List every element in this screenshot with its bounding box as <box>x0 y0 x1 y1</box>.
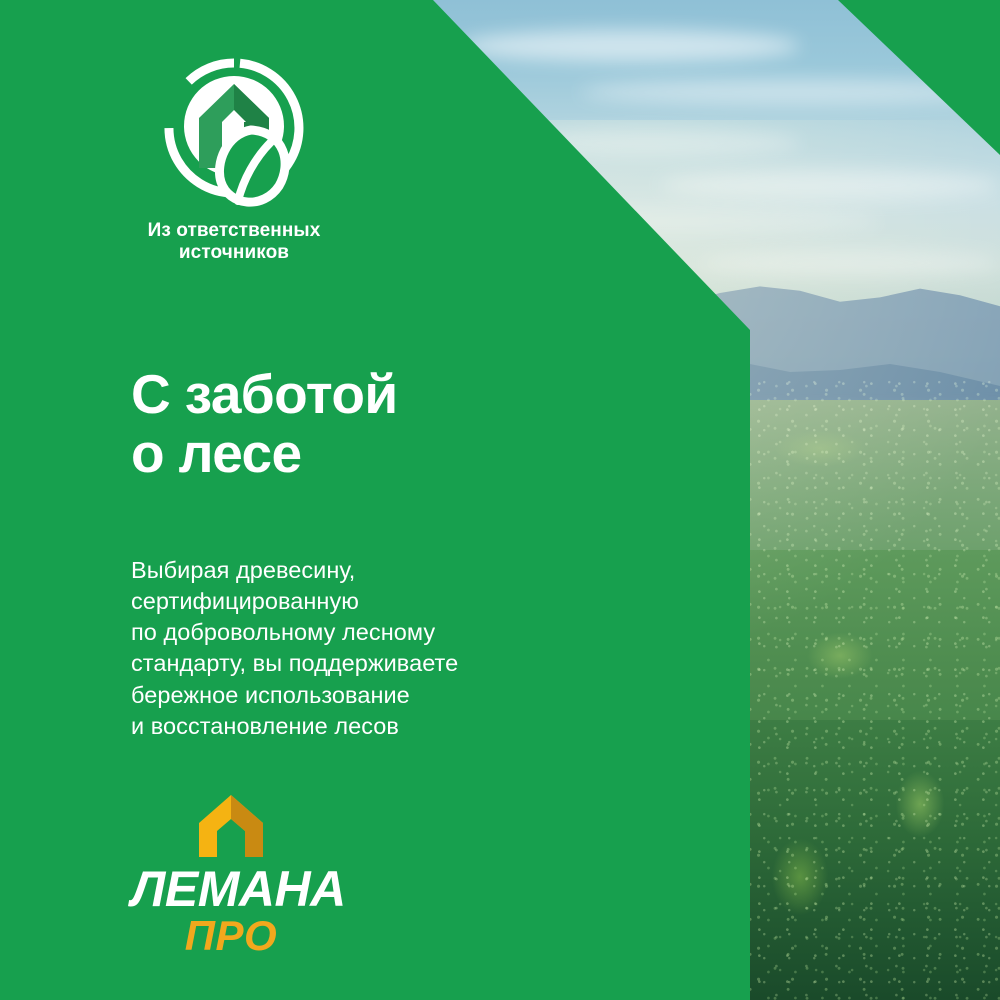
headline-line-1: С заботой <box>131 365 398 424</box>
brand-suffix: ПРО <box>131 915 331 957</box>
page-title: С заботой о лесе <box>131 365 398 484</box>
promo-poster: Из ответственных источников С заботой о … <box>0 0 1000 1000</box>
certification-caption-line-1: Из ответственных <box>128 220 340 242</box>
body-line-1: Выбирая древесину, <box>131 555 458 586</box>
headline-line-2: о лесе <box>131 424 398 483</box>
brand-logo: ЛЕМАНА ПРО <box>131 793 331 957</box>
body-line-4: стандарту, вы поддерживаете <box>131 648 458 679</box>
poster-content: Из ответственных источников С заботой о … <box>0 0 1000 1000</box>
body-line-2: сертифицированную <box>131 586 458 617</box>
circle-house-leaf-icon <box>159 58 309 210</box>
body-line-5: бережное использование <box>131 680 458 711</box>
certification-caption-line-2: источников <box>128 242 340 264</box>
body-line-6: и восстановление лесов <box>131 711 458 742</box>
brand-name: ЛЕМАНА <box>131 865 331 913</box>
house-roof-icon <box>195 793 267 859</box>
certification-caption: Из ответственных источников <box>128 220 340 264</box>
certification-badge: Из ответственных источников <box>128 58 340 264</box>
body-paragraph: Выбирая древесину, сертифицированную по … <box>131 555 458 743</box>
body-line-3: по добровольному лесному <box>131 617 458 648</box>
